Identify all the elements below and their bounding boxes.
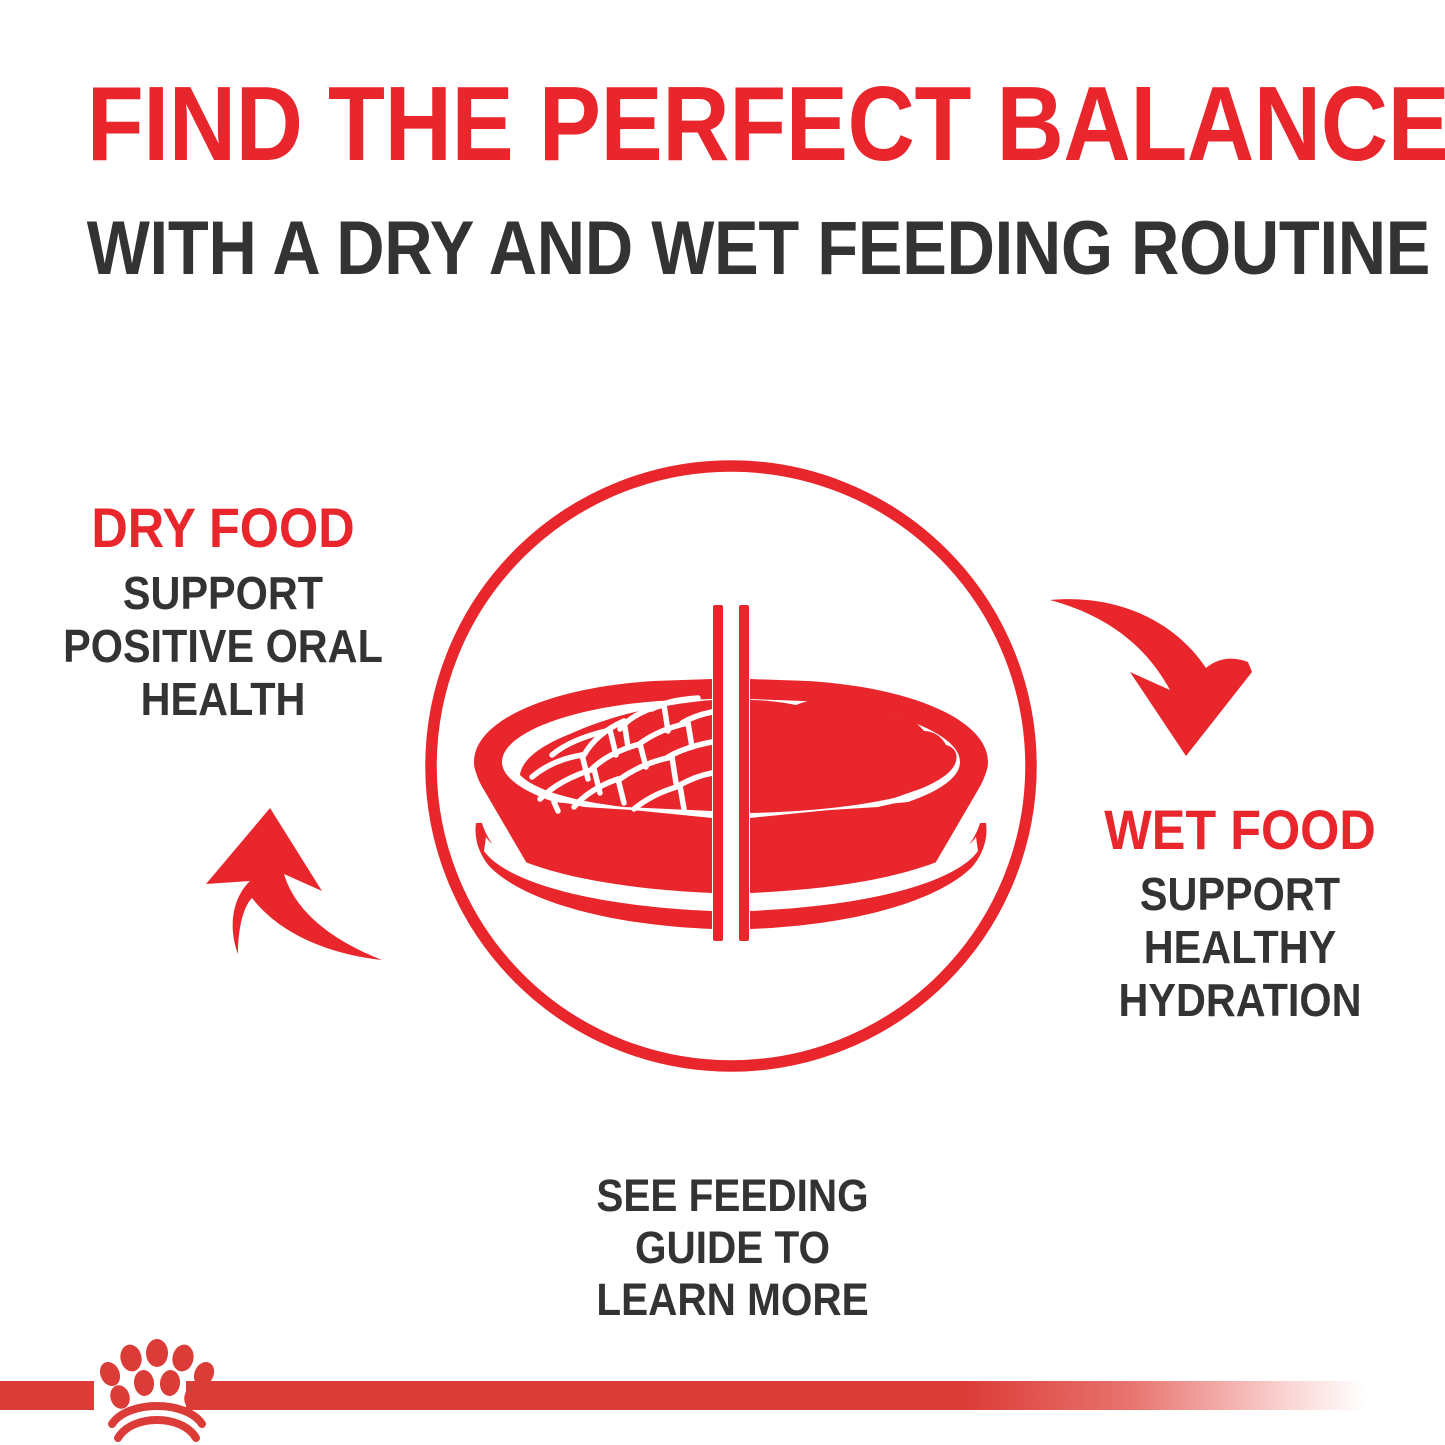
curved-arrow-up-left-icon — [186, 786, 436, 1000]
royal-canin-crown-icon — [96, 1338, 218, 1445]
dry-food-body-line-3: HEALTH — [48, 673, 399, 726]
split-pet-food-bowl-icon — [424, 459, 1038, 1073]
feeding-guide-caption: SEE FEEDING GUIDE TO LEARN MORE — [460, 1170, 1005, 1326]
page-title: FIND THE PERFECT BALANCE — [87, 68, 1359, 180]
headline-block: FIND THE PERFECT BALANCE WITH A DRY AND … — [0, 68, 1445, 292]
page-subtitle: WITH A DRY AND WET FEEDING ROUTINE — [87, 206, 1359, 292]
caption-line-1: SEE FEEDING — [487, 1170, 978, 1222]
caption-line-2: GUIDE TO — [487, 1222, 978, 1274]
wet-food-body-line-2: HYDRATION — [1060, 974, 1420, 1027]
wet-food-body-line-1: SUPPORT HEALTHY — [1060, 868, 1420, 974]
wet-food-title: WET FOOD — [1060, 800, 1420, 860]
dry-food-body-line-1: SUPPORT — [48, 567, 399, 620]
wet-food-label-group: WET FOOD SUPPORT HEALTHY HYDRATION — [1040, 800, 1440, 1027]
footer-bar-left-segment — [0, 1381, 94, 1410]
caption-line-3: LEARN MORE — [487, 1274, 978, 1326]
dry-food-label-group: DRY FOOD SUPPORT POSITIVE ORAL HEALTH — [28, 498, 418, 726]
curved-arrow-down-right-icon — [1040, 578, 1290, 778]
dry-food-body-line-2: POSITIVE ORAL — [48, 620, 399, 673]
footer-bar-right-segment — [186, 1381, 1366, 1410]
dry-food-title: DRY FOOD — [48, 498, 399, 558]
